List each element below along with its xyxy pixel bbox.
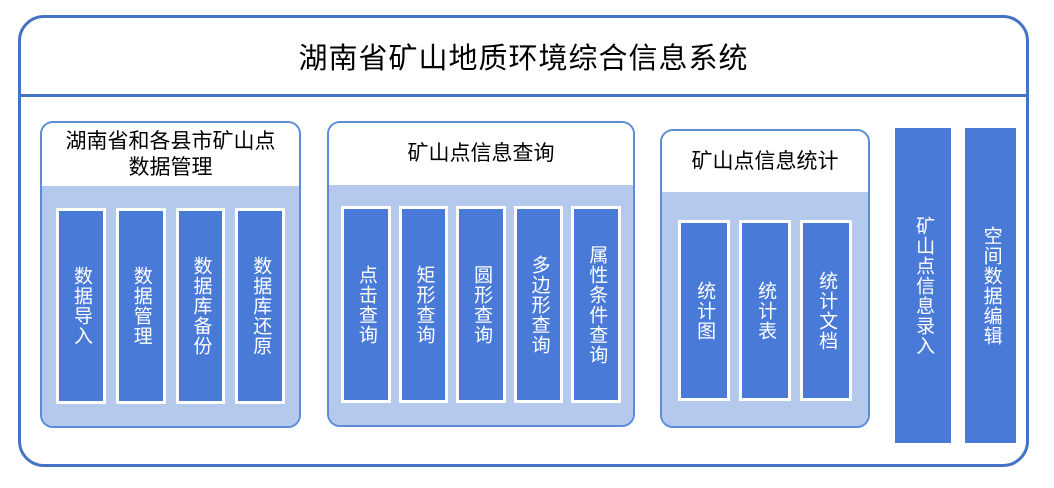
modules-area: 湖南省和各县市矿山点 数据管理 数据导入 数据管理 数据库备份 数据库还原 xyxy=(21,97,1026,464)
module-header-info-query: 矿山点信息查询 xyxy=(329,123,633,185)
module-item-data-management[interactable]: 数据管理 xyxy=(116,208,166,404)
module-item-statistics-document[interactable]: 统计文档 xyxy=(800,220,852,401)
module-item-polygon-query[interactable]: 多边形查询 xyxy=(514,206,564,403)
module-item-label: 统计文档 xyxy=(816,271,836,351)
module-column-spatial-data-edit[interactable]: 空间数据编辑 xyxy=(965,128,1016,443)
module-panel-info-query[interactable]: 矿山点信息查询 点击查询 矩形查询 圆形查询 多边形查询 属性条件查询 xyxy=(327,121,635,427)
module-body-info-query: 点击查询 矩形查询 圆形查询 多边形查询 属性条件查询 xyxy=(329,185,633,425)
system-frame: 湖南省矿山地质环境综合信息系统 湖南省和各县市矿山点 数据管理 数据导入 数据管… xyxy=(18,15,1029,467)
module-item-label: 属性条件查询 xyxy=(586,245,606,365)
module-item-label: 点击查询 xyxy=(356,265,376,345)
module-item-circle-query[interactable]: 圆形查询 xyxy=(456,206,506,403)
module-item-statistics-chart[interactable]: 统计图 xyxy=(678,220,730,401)
module-item-rectangle-query[interactable]: 矩形查询 xyxy=(399,206,449,403)
module-item-label: 统计表 xyxy=(755,281,775,341)
module-item-label: 数据库备份 xyxy=(190,256,210,356)
module-item-statistics-table[interactable]: 统计表 xyxy=(739,220,791,401)
module-body-info-statistics: 统计图 统计表 统计文档 xyxy=(662,192,868,426)
module-column-mine-point-entry[interactable]: 矿山点信息录入 xyxy=(895,128,951,443)
module-item-label: 数据导入 xyxy=(71,266,91,346)
module-header-info-statistics: 矿山点信息统计 xyxy=(662,131,868,192)
module-item-label: 矩形查询 xyxy=(413,265,433,345)
module-title-data-management: 湖南省和各县市矿山点 数据管理 xyxy=(66,129,276,180)
module-item-label: 数据管理 xyxy=(131,266,151,346)
module-item-click-query[interactable]: 点击查询 xyxy=(341,206,391,403)
module-column-label: 矿山点信息录入 xyxy=(913,216,933,356)
module-body-data-management: 数据导入 数据管理 数据库备份 数据库还原 xyxy=(42,186,299,426)
module-item-label: 数据库还原 xyxy=(250,256,270,356)
module-panel-info-statistics[interactable]: 矿山点信息统计 统计图 统计表 统计文档 xyxy=(660,129,870,428)
module-title-info-query: 矿山点信息查询 xyxy=(408,141,555,167)
module-header-data-management: 湖南省和各县市矿山点 数据管理 xyxy=(42,123,299,186)
module-item-label: 统计图 xyxy=(694,281,714,341)
module-item-label: 圆形查询 xyxy=(471,265,491,345)
module-item-attribute-condition-query[interactable]: 属性条件查询 xyxy=(571,206,621,403)
system-title-bar: 湖南省矿山地质环境综合信息系统 xyxy=(21,18,1026,97)
page-title: 湖南省矿山地质环境综合信息系统 xyxy=(298,35,748,77)
module-title-info-statistics: 矿山点信息统计 xyxy=(692,149,839,175)
module-panel-data-management[interactable]: 湖南省和各县市矿山点 数据管理 数据导入 数据管理 数据库备份 数据库还原 xyxy=(40,121,301,428)
module-item-database-backup[interactable]: 数据库备份 xyxy=(176,208,226,404)
module-item-label: 多边形查询 xyxy=(529,255,549,355)
module-item-data-import[interactable]: 数据导入 xyxy=(56,208,106,404)
module-item-database-restore[interactable]: 数据库还原 xyxy=(235,208,285,404)
module-column-label: 空间数据编辑 xyxy=(980,226,1000,346)
